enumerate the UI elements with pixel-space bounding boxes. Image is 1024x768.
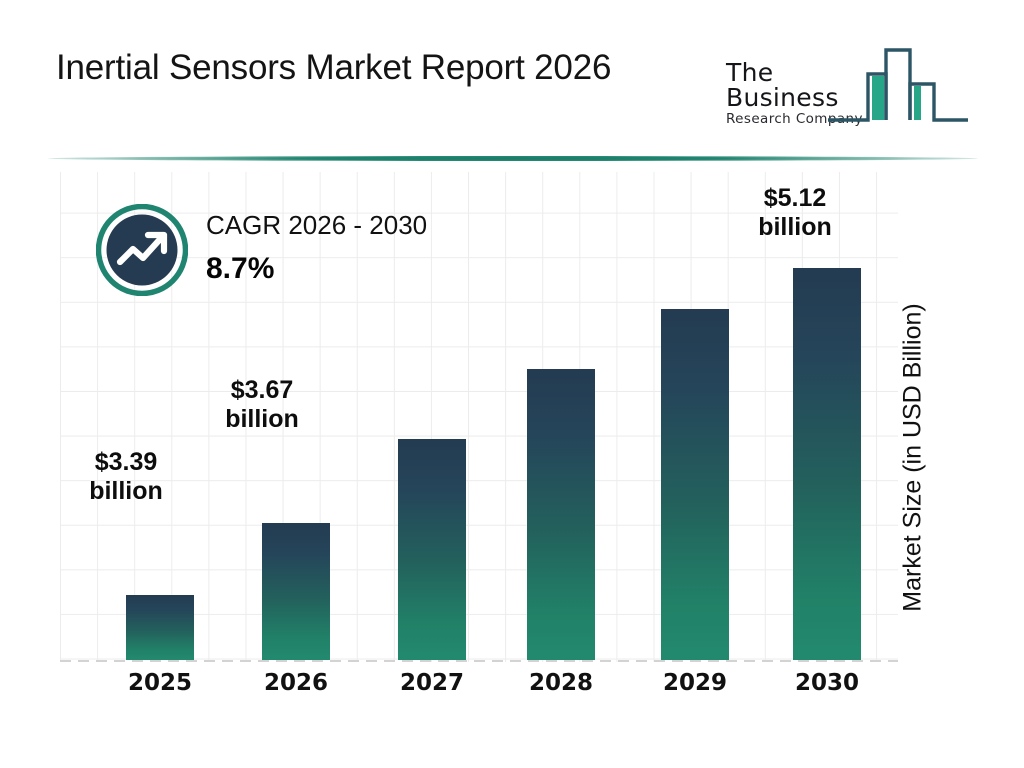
chart-bar[interactable]	[527, 369, 595, 660]
bar-value-unit: billion	[187, 405, 337, 434]
y-axis-title-text: Market Size (in USD Billion)	[899, 303, 928, 611]
header-divider	[48, 156, 978, 161]
x-axis-tick-2028: 2028	[501, 670, 621, 696]
bar-value-amount: $3.39	[51, 448, 201, 477]
bar-value-amount: $5.12	[720, 184, 870, 213]
bar-chart-outline-logo-mark-icon	[826, 34, 970, 126]
x-axis-labels: 202520262027202820292030	[60, 670, 898, 710]
cagr-value: 8.7%	[206, 254, 427, 284]
cagr-text-block: CAGR 2026 - 2030 8.7%	[206, 212, 427, 284]
x-axis-tick-2029: 2029	[635, 670, 755, 696]
bar-value-label: $3.39billion	[51, 448, 201, 507]
bar-value-label: $5.12billion	[720, 184, 870, 243]
chart-page: Inertial Sensors Market Report 2026 The …	[0, 0, 1024, 768]
cagr-period-label: CAGR 2026 - 2030	[206, 212, 427, 238]
chart-bar[interactable]	[262, 523, 330, 660]
y-axis-title: Market Size (in USD Billion)	[898, 262, 928, 652]
chart-bar[interactable]	[793, 268, 861, 660]
chart-bar[interactable]	[398, 439, 466, 660]
cagr-badge: CAGR 2026 - 2030 8.7%	[96, 204, 496, 308]
chart-bar[interactable]	[126, 595, 194, 660]
bar-value-unit: billion	[51, 477, 201, 506]
bar-value-label: $3.67billion	[187, 376, 337, 435]
company-logo: The Business Research Company	[722, 34, 970, 126]
trending-up-arrow-icon	[96, 204, 188, 296]
x-axis-tick-2030: 2030	[767, 670, 887, 696]
chart-bar[interactable]	[661, 309, 729, 660]
x-axis-tick-2025: 2025	[100, 670, 220, 696]
bar-value-unit: billion	[720, 213, 870, 242]
x-axis-tick-2026: 2026	[236, 670, 356, 696]
page-title: Inertial Sensors Market Report 2026	[56, 48, 611, 88]
bar-value-amount: $3.67	[187, 376, 337, 405]
x-axis-tick-2027: 2027	[372, 670, 492, 696]
